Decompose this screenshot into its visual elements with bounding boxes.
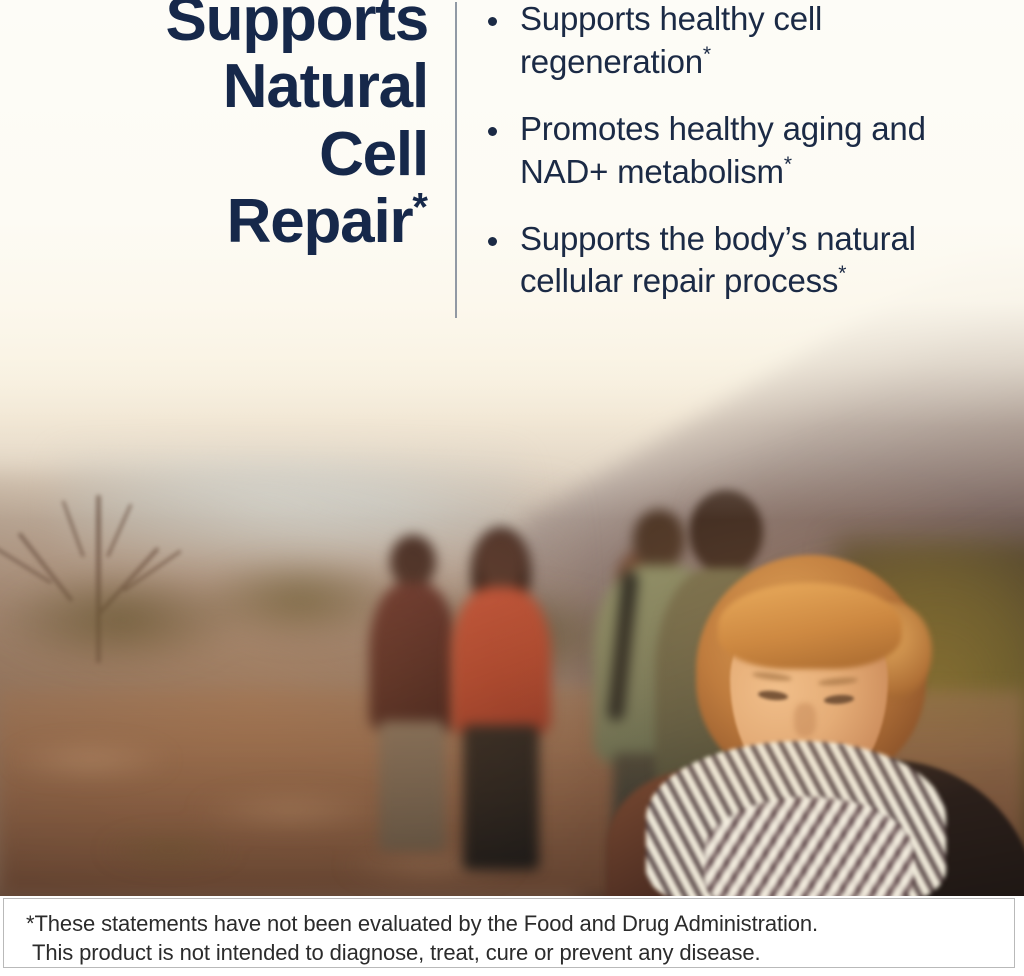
benefit-item-1: Supports healthy cell regeneration* xyxy=(484,0,1004,84)
product-benefit-banner: Supports Natural Cell Repair* Supports h… xyxy=(0,0,1024,976)
disclaimer-region: *These statements have not been evaluate… xyxy=(0,896,1024,976)
benefit-text-2: Promotes healthy aging and NAD+ metaboli… xyxy=(520,110,926,190)
benefit-text-1: Supports healthy cell regeneration xyxy=(520,0,822,80)
banner-content: Supports Natural Cell Repair* Supports h… xyxy=(0,0,1024,896)
headline: Supports Natural Cell Repair* xyxy=(40,0,428,255)
benefit-footnote-marker-1: * xyxy=(703,43,711,66)
disclaimer-box: *These statements have not been evaluate… xyxy=(3,898,1015,968)
benefit-list: Supports healthy cell regeneration* Prom… xyxy=(484,0,1004,327)
bullet-dot-icon xyxy=(488,237,497,246)
headline-footnote-marker: * xyxy=(412,185,428,229)
disclaimer-line-2: This product is not intended to diagnose… xyxy=(26,938,1014,967)
bullet-dot-icon xyxy=(488,127,497,136)
benefit-item-3: Supports the body’s natural cellular rep… xyxy=(484,218,1004,304)
disclaimer-line-1: *These statements have not been evaluate… xyxy=(26,911,818,936)
headline-line-2: Natural xyxy=(223,52,428,121)
benefit-footnote-marker-2: * xyxy=(784,153,792,176)
headline-line-4: Repair xyxy=(227,187,413,256)
benefit-item-2: Promotes healthy aging and NAD+ metaboli… xyxy=(484,108,1004,194)
headline-line-1: Supports xyxy=(166,0,429,54)
vertical-divider xyxy=(455,2,457,318)
benefit-text-3: Supports the body’s natural cellular rep… xyxy=(520,220,916,300)
bullet-dot-icon xyxy=(488,17,497,26)
headline-line-3: Cell xyxy=(319,120,428,189)
disclaimer-text: *These statements have not been evaluate… xyxy=(4,899,1014,968)
benefit-footnote-marker-3: * xyxy=(838,262,846,285)
